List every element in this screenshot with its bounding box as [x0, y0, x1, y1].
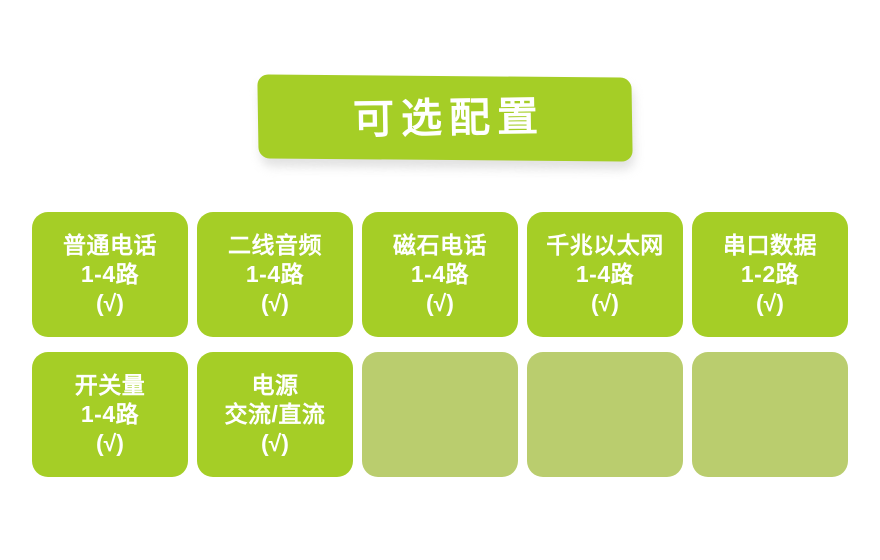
card-spec: 交流/直流 — [225, 400, 326, 429]
card-spec: 1-4路 — [246, 260, 304, 289]
feature-card-placeholder — [692, 352, 848, 477]
card-check-mark: (√) — [426, 289, 454, 318]
card-title: 二线音频 — [228, 231, 322, 260]
feature-card-power-supply[interactable]: 电源交流/直流(√) — [197, 352, 353, 477]
feature-card-serial-data[interactable]: 串口数据1-2路(√) — [692, 212, 848, 337]
optional-config-banner: 可选配置 — [256, 74, 634, 170]
card-title: 磁石电话 — [393, 231, 487, 260]
card-check-mark: (√) — [591, 289, 619, 318]
banner-title: 可选配置 — [345, 96, 545, 140]
card-check-mark: (√) — [261, 429, 289, 458]
banner-plate: 可选配置 — [257, 74, 632, 161]
feature-card-gigabit-ethernet[interactable]: 千兆以太网1-4路(√) — [527, 212, 683, 337]
feature-card-ordinary-telephone[interactable]: 普通电话1-4路(√) — [32, 212, 188, 337]
feature-card-two-wire-audio[interactable]: 二线音频1-4路(√) — [197, 212, 353, 337]
card-spec: 1-4路 — [411, 260, 469, 289]
card-check-mark: (√) — [261, 289, 289, 318]
feature-card-placeholder — [362, 352, 518, 477]
card-spec: 1-4路 — [81, 260, 139, 289]
feature-card-grid: 普通电话1-4路(√)二线音频1-4路(√)磁石电话1-4路(√)千兆以太网1-… — [32, 212, 848, 477]
feature-card-placeholder — [527, 352, 683, 477]
card-title: 普通电话 — [63, 231, 157, 260]
card-title: 开关量 — [75, 371, 146, 400]
page-root: 可选配置 普通电话1-4路(√)二线音频1-4路(√)磁石电话1-4路(√)千兆… — [0, 0, 880, 560]
card-title: 千兆以太网 — [546, 231, 664, 260]
card-spec: 1-4路 — [81, 400, 139, 429]
card-spec: 1-4路 — [576, 260, 634, 289]
card-title: 电源 — [252, 371, 299, 400]
feature-card-magneto-telephone[interactable]: 磁石电话1-4路(√) — [362, 212, 518, 337]
card-title: 串口数据 — [723, 231, 817, 260]
card-check-mark: (√) — [96, 289, 124, 318]
feature-card-switching-value[interactable]: 开关量1-4路(√) — [32, 352, 188, 477]
card-spec: 1-2路 — [741, 260, 799, 289]
card-check-mark: (√) — [756, 289, 784, 318]
card-check-mark: (√) — [96, 429, 124, 458]
